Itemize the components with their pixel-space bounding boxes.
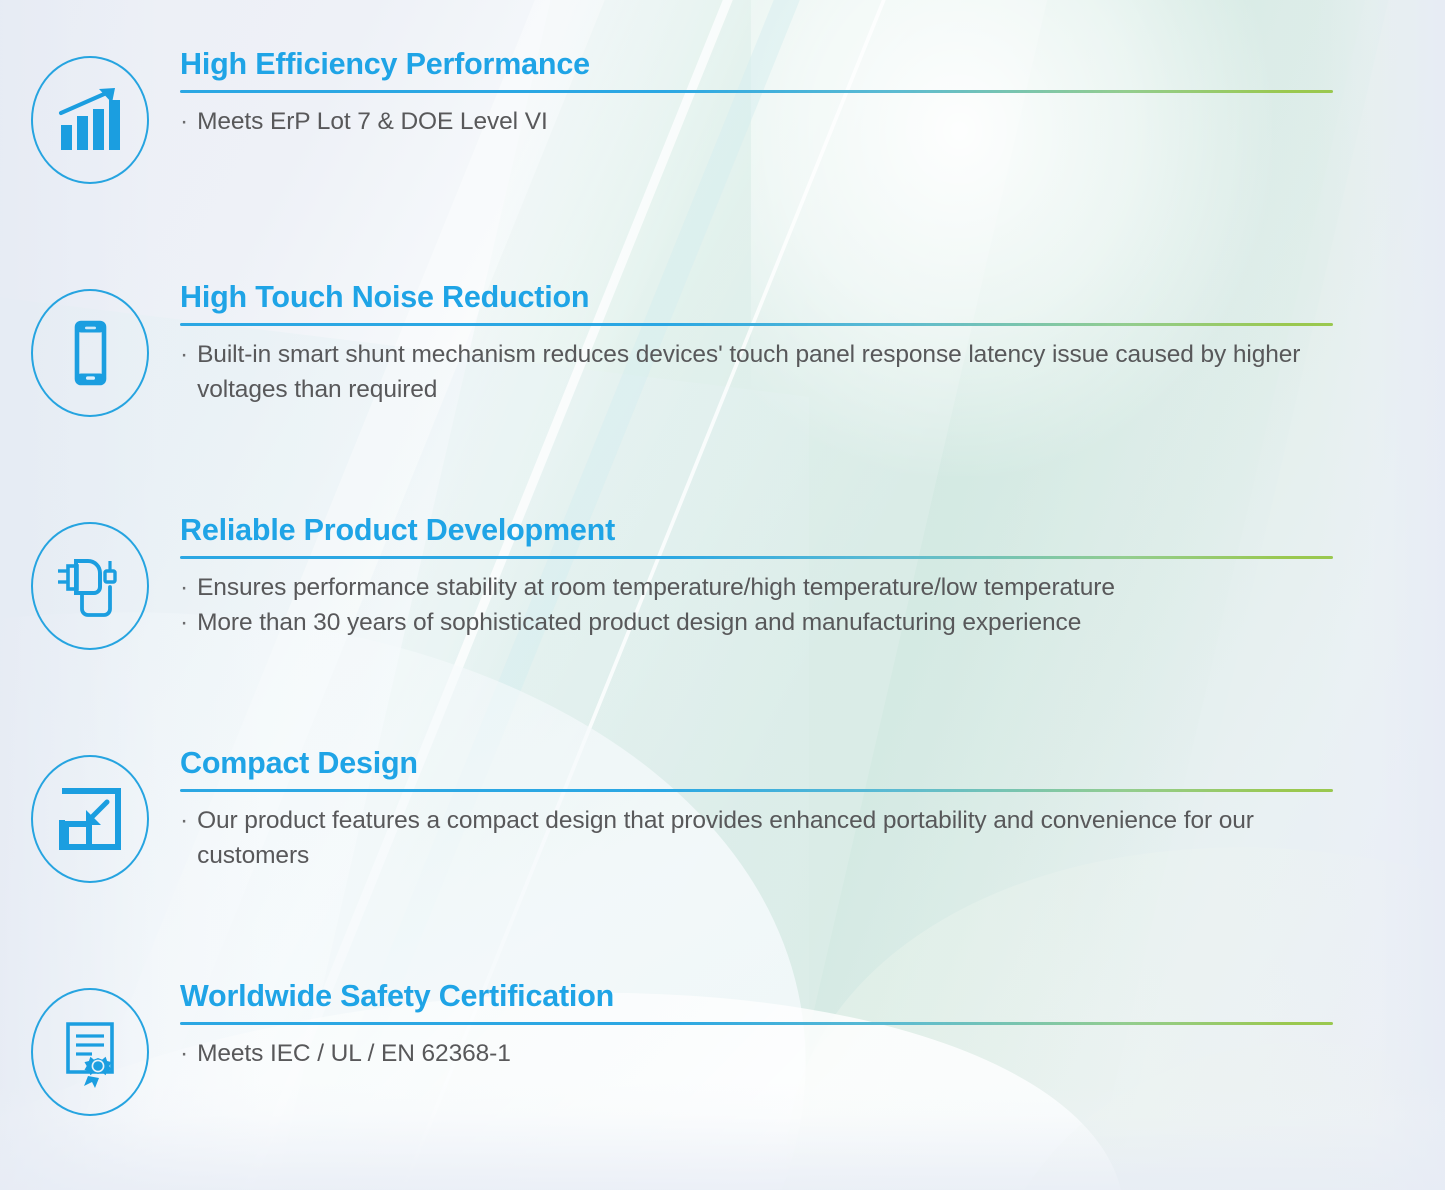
- bar-chart-growth-icon: [53, 83, 127, 157]
- feature-bullets: · Our product features a compact design …: [180, 804, 1365, 874]
- feature-title: Compact Design: [180, 747, 1365, 780]
- bullet-marker: ·: [180, 571, 197, 606]
- power-adapter-icon: [51, 549, 129, 623]
- feature-bullets: · Built-in smart shunt mechanism reduces…: [180, 338, 1365, 408]
- feature-text-block: High Efficiency Performance · Meets ErP …: [180, 48, 1445, 140]
- feature-highlights-page: High Efficiency Performance · Meets ErP …: [0, 0, 1445, 1190]
- feature-title: High Touch Noise Reduction: [180, 281, 1365, 314]
- bullet-marker: ·: [180, 105, 197, 140]
- feature-icon-container: [0, 48, 180, 184]
- feature-title: Reliable Product Development: [180, 514, 1365, 547]
- feature-item-reliable-product-development: Reliable Product Development · Ensures p…: [0, 514, 1445, 650]
- feature-text-block: Reliable Product Development · Ensures p…: [180, 514, 1445, 641]
- feature-title: Worldwide Safety Certification: [180, 980, 1365, 1013]
- feature-divider-rule: [180, 789, 1333, 792]
- bullet-marker: ·: [180, 338, 197, 408]
- bullet-item: · Our product features a compact design …: [180, 804, 1365, 874]
- icon-circle-frame: [31, 755, 149, 883]
- feature-item-high-efficiency-performance: High Efficiency Performance · Meets ErP …: [0, 48, 1445, 184]
- feature-icon-container: [0, 980, 180, 1116]
- feature-text-block: Worldwide Safety Certification · Meets I…: [180, 980, 1445, 1072]
- bullet-text: More than 30 years of sophisticated prod…: [197, 606, 1365, 641]
- bullet-item: · Ensures performance stability at room …: [180, 571, 1365, 606]
- certificate-award-icon: [54, 1016, 126, 1088]
- smartphone-icon: [53, 316, 127, 390]
- bullet-item: · Built-in smart shunt mechanism reduces…: [180, 338, 1365, 408]
- bullet-item: · More than 30 years of sophisticated pr…: [180, 606, 1365, 641]
- feature-divider-rule: [180, 1022, 1333, 1025]
- feature-text-block: High Touch Noise Reduction · Built-in sm…: [180, 281, 1445, 408]
- feature-icon-container: [0, 281, 180, 417]
- bullet-text: Meets IEC / UL / EN 62368-1: [197, 1037, 1365, 1072]
- feature-bullets: · Ensures performance stability at room …: [180, 571, 1365, 641]
- feature-item-high-touch-noise-reduction: High Touch Noise Reduction · Built-in sm…: [0, 281, 1445, 417]
- feature-title: High Efficiency Performance: [180, 48, 1365, 81]
- feature-bullets: · Meets IEC / UL / EN 62368-1: [180, 1037, 1365, 1072]
- bullet-marker: ·: [180, 606, 197, 641]
- bullet-marker: ·: [180, 1037, 197, 1072]
- icon-circle-frame: [31, 56, 149, 184]
- bullet-text: Ensures performance stability at room te…: [197, 571, 1365, 606]
- feature-bullets: · Meets ErP Lot 7 & DOE Level VI: [180, 105, 1365, 140]
- icon-circle-frame: [31, 522, 149, 650]
- feature-item-compact-design: Compact Design · Our product features a …: [0, 747, 1445, 883]
- feature-item-worldwide-safety-certification: Worldwide Safety Certification · Meets I…: [0, 980, 1445, 1116]
- bullet-marker: ·: [180, 804, 197, 874]
- bullet-item: · Meets ErP Lot 7 & DOE Level VI: [180, 105, 1365, 140]
- feature-icon-container: [0, 514, 180, 650]
- feature-text-block: Compact Design · Our product features a …: [180, 747, 1445, 874]
- feature-divider-rule: [180, 90, 1333, 93]
- bullet-text: Meets ErP Lot 7 & DOE Level VI: [197, 105, 1365, 140]
- bullet-text: Built-in smart shunt mechanism reduces d…: [197, 338, 1365, 408]
- feature-divider-rule: [180, 323, 1333, 326]
- icon-circle-frame: [31, 988, 149, 1116]
- feature-icon-container: [0, 747, 180, 883]
- compact-resize-icon: [55, 784, 125, 854]
- bullet-item: · Meets IEC / UL / EN 62368-1: [180, 1037, 1365, 1072]
- bullet-text: Our product features a compact design th…: [197, 804, 1365, 874]
- features-list: High Efficiency Performance · Meets ErP …: [0, 0, 1445, 1190]
- feature-divider-rule: [180, 556, 1333, 559]
- icon-circle-frame: [31, 289, 149, 417]
